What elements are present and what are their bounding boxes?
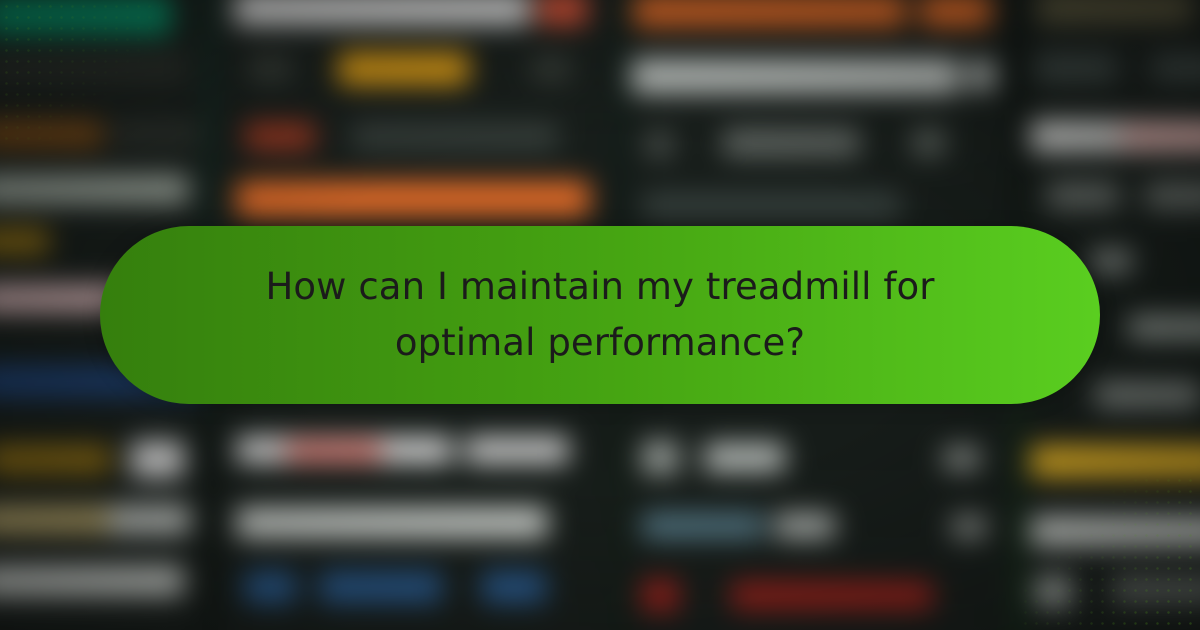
background-row xyxy=(130,441,184,478)
background-row xyxy=(1151,54,1200,81)
background-row xyxy=(1145,183,1200,208)
background-row xyxy=(969,60,994,89)
background-row xyxy=(1047,183,1120,208)
background-row xyxy=(481,572,545,603)
background-row xyxy=(642,193,902,216)
background-row xyxy=(631,58,960,93)
background-row xyxy=(0,175,189,204)
background-row xyxy=(1128,316,1200,339)
background-row xyxy=(723,129,860,156)
background-row xyxy=(236,181,590,216)
background-row xyxy=(248,56,292,81)
dot-grid-bottom-right-icon xyxy=(1020,475,1200,630)
background-row xyxy=(952,516,987,539)
background-row xyxy=(1035,54,1118,81)
background-row xyxy=(1120,125,1200,148)
background-row xyxy=(642,441,679,474)
background-row xyxy=(633,0,905,27)
background-row xyxy=(538,0,588,25)
background-row xyxy=(642,514,765,539)
background-row xyxy=(731,582,933,609)
background-row xyxy=(465,437,569,464)
background-row xyxy=(1091,249,1133,272)
background-row xyxy=(244,572,296,603)
background-row xyxy=(912,129,945,156)
background-row xyxy=(236,507,548,538)
background-row xyxy=(0,566,184,597)
background-row xyxy=(1031,445,1200,478)
background-row xyxy=(350,123,558,150)
background-row xyxy=(704,443,785,472)
background-row xyxy=(0,445,111,474)
screenshot-canvas: How can I maintain my treadmill for opti… xyxy=(0,0,1200,630)
background-row xyxy=(234,0,530,25)
background-row xyxy=(109,505,190,534)
background-row xyxy=(0,505,111,534)
background-row xyxy=(1095,383,1200,408)
dot-grid-top-left-icon xyxy=(0,0,160,140)
background-row xyxy=(775,514,835,539)
background-row xyxy=(920,0,991,27)
background-row xyxy=(244,123,315,150)
background-row xyxy=(646,131,673,158)
background-row xyxy=(531,56,571,81)
headline-text: How can I maintain my treadmill for opti… xyxy=(190,259,1010,371)
background-row xyxy=(943,447,980,470)
background-row xyxy=(338,52,469,85)
background-row xyxy=(286,441,382,462)
background-row xyxy=(1037,0,1193,23)
headline-pill: How can I maintain my treadmill for opti… xyxy=(100,226,1100,404)
background-row xyxy=(642,580,679,611)
background-row xyxy=(319,572,442,603)
background-row xyxy=(0,229,49,254)
